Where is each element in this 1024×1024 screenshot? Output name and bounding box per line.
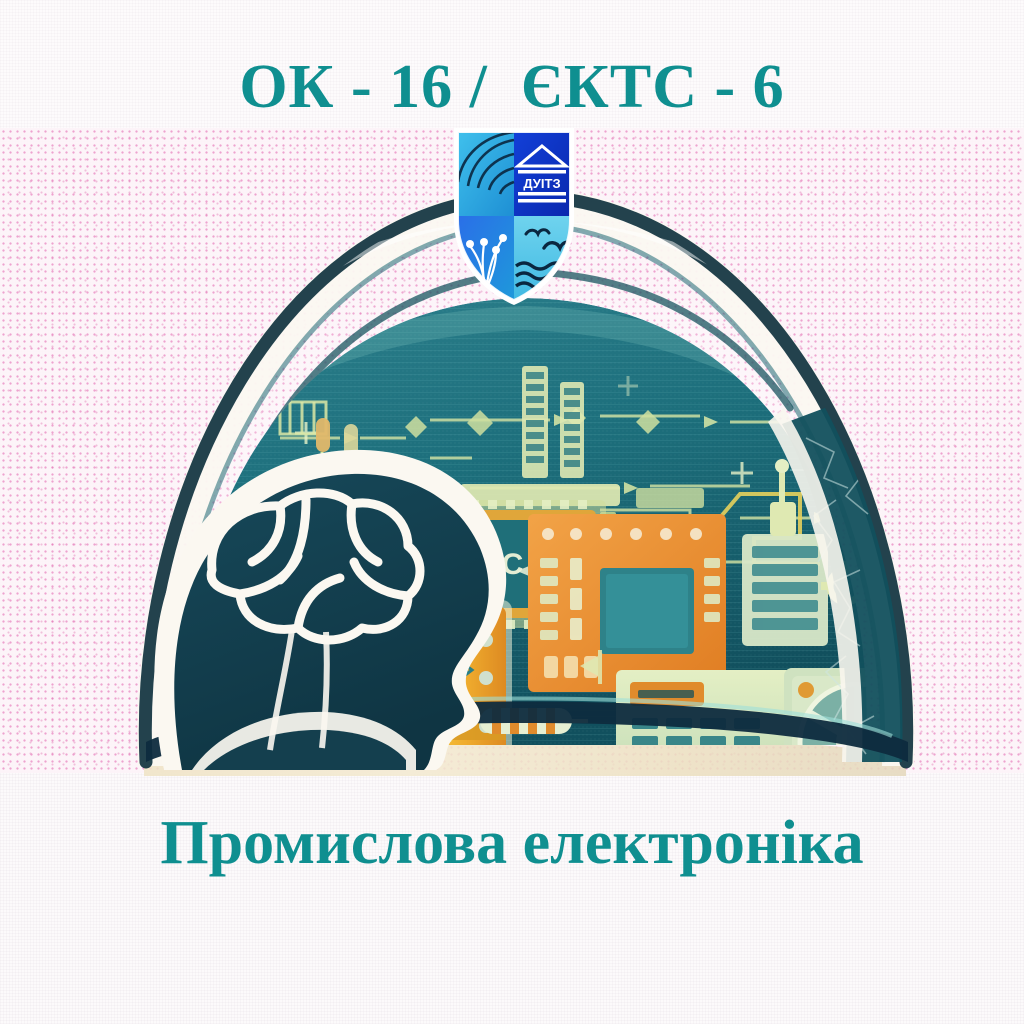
cover-canvas: ОК - 16 / ЄКТС - 6	[0, 0, 1024, 1024]
page-title-course-name: Промислова електроніка	[0, 812, 1024, 874]
orange-board-module	[528, 514, 726, 692]
shield-acronym-text: ДУІТЗ	[523, 176, 560, 191]
duitz-emblem: ДУІТЗ	[448, 124, 580, 309]
page-title-course-code: ОК - 16 / ЄКТС - 6	[0, 56, 1024, 118]
shield-quarter-top-left	[458, 132, 514, 216]
